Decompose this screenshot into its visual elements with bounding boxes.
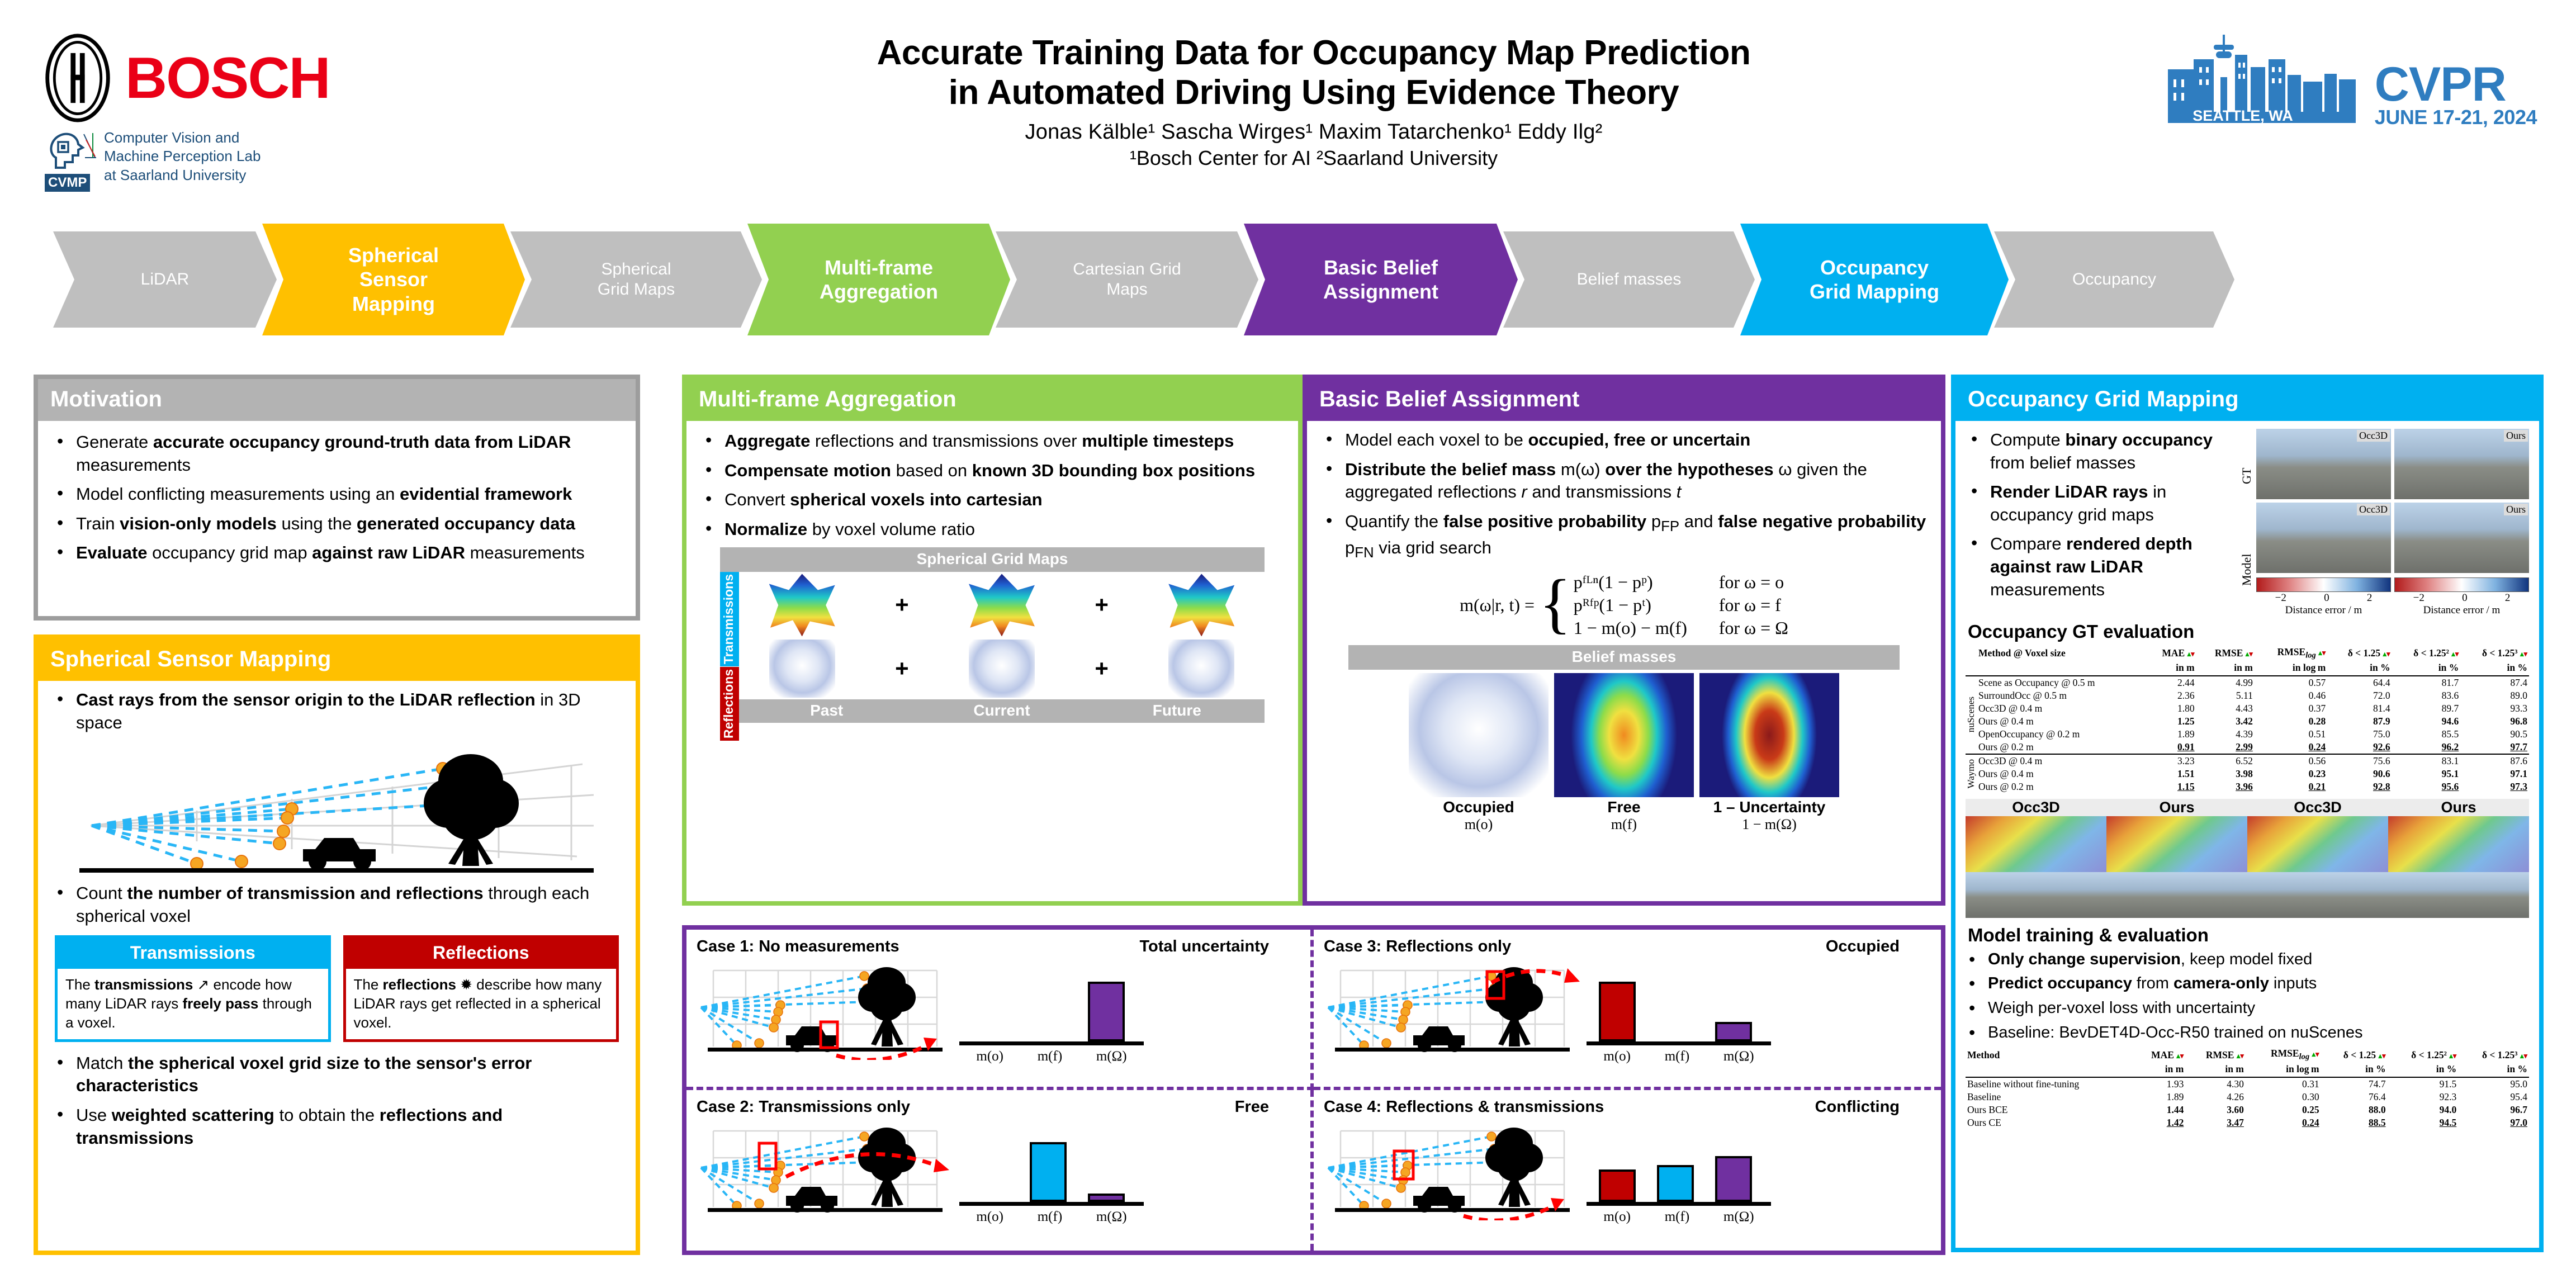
column-header: RMSElog ▴▾ — [2255, 646, 2327, 661]
case-cell-3: Case 3: Reflections only Occupied — [1314, 930, 1941, 1090]
cell-value: 92.6 — [2327, 741, 2392, 754]
column-header: δ < 1.25 ▴▾ — [2321, 1047, 2388, 1063]
column-unit: in % — [2460, 661, 2529, 676]
cell-value: 91.5 — [2388, 1077, 2459, 1091]
camera-image-1 — [1966, 872, 2106, 918]
equation-case-expr: pᶠᴸⁿ(1 − pᵖ) — [1574, 572, 1719, 593]
bar-label: m(f) — [1038, 1049, 1062, 1064]
cell-value: 95.1 — [2392, 768, 2461, 780]
column-unit: in % — [2388, 1063, 2459, 1077]
table-row: Ours BCE1.443.600.2588.094.096.7 — [1966, 1104, 2529, 1116]
transmission-map-past — [769, 574, 835, 636]
page-title-line-1: Accurate Training Data for Occupancy Map… — [660, 34, 1968, 73]
bar-chart-labels: m(o)m(f)m(Ω) — [1587, 1209, 1771, 1225]
equation-lhs: m(ω|r, t) = — [1460, 595, 1535, 615]
column-header: δ < 1.25³ ▴▾ — [2458, 1047, 2529, 1063]
column-header: δ < 1.25³ ▴▾ — [2460, 646, 2529, 661]
row-label-model: Model — [2239, 536, 2256, 603]
bar-chart-axis — [1587, 1202, 1771, 1206]
pipeline-step-multi-frame-aggregation[interactable]: Multi-frameAggregation — [747, 224, 1010, 335]
list-item: Aggregate reflections and transmissions … — [700, 430, 1285, 453]
strip-label: Ours — [2106, 799, 2247, 816]
cell-method: SurroundOcc @ 0.5 m — [1977, 689, 2146, 702]
belief-sub-occupied: m(o) — [1409, 816, 1549, 833]
column-unit: in % — [2327, 661, 2392, 676]
cell-method: Occ3D @ 0.4 m — [1977, 754, 2146, 768]
row-label-gt: GT — [2239, 442, 2256, 509]
belief-label-free: Free — [1554, 798, 1694, 816]
pipeline-step-label: OccupancyGrid Mapping — [1791, 255, 1958, 304]
figure-caption-belief-masses: Belief masses — [1348, 645, 1900, 670]
belief-sub-free: m(f) — [1554, 816, 1694, 833]
cell-value: 83.6 — [2392, 689, 2461, 702]
panel-title-spherical-sensor-mapping: Spherical Sensor Mapping — [38, 639, 636, 681]
pipeline-step-label: SphericalSensorMapping — [329, 243, 458, 316]
camera-image-2 — [2106, 872, 2247, 918]
list-item: Compute binary occupancy from belief mas… — [1966, 429, 2234, 474]
pipeline-step-occupancy[interactable]: Occupancy — [1994, 231, 2234, 328]
column-unit: in log m — [2255, 661, 2327, 676]
camera-image-4 — [2388, 872, 2529, 918]
head-chip-icon — [45, 129, 96, 170]
cell-value: 1.89 — [2146, 728, 2196, 741]
pipeline-step-label: Basic BeliefAssignment — [1304, 255, 1457, 304]
cell-value: 1.89 — [2133, 1091, 2185, 1104]
column-header: δ < 1.25 ▴▾ — [2327, 646, 2392, 661]
cell-value: 87.6 — [2460, 754, 2529, 768]
cell-value: 89.0 — [2460, 689, 2529, 702]
case-bar-chart: m(o)m(f)m(Ω) — [959, 1124, 1144, 1225]
cell-value: 3.96 — [2196, 780, 2255, 793]
column-unit: in % — [2392, 661, 2461, 676]
list-item: Train vision-only models using the gener… — [51, 513, 622, 536]
bba-bullet-list: Model each voxel to be occupied, free or… — [1320, 429, 1928, 563]
cell-value: 0.37 — [2255, 702, 2327, 715]
belief-mass-equation: m(ω|r, t) = { pᶠᴸⁿ(1 − pᵖ)for ω = o pᴿᶠᵖ… — [1320, 570, 1928, 641]
column-header: RMSElog ▴▾ — [2246, 1047, 2321, 1063]
list-item: Render LiDAR rays in occupancy grid maps — [1966, 481, 2234, 526]
table-row: Baseline1.894.260.3076.492.395.4 — [1966, 1091, 2529, 1104]
tag-ours: Ours — [2504, 430, 2528, 442]
bar-chart-axis — [959, 1202, 1144, 1206]
belief-bar-m(Ω) — [1088, 1194, 1125, 1202]
section-title-training-eval: Model training & evaluation — [1968, 925, 2529, 946]
case-bar-chart: m(o)m(f)m(Ω) — [959, 964, 1144, 1064]
column-label-current: Current — [914, 699, 1089, 723]
cell-value: 76.4 — [2321, 1091, 2388, 1104]
occ3d-ours-comparison-strip: Occ3D Ours Occ3D Ours — [1966, 799, 2529, 918]
cell-value: 4.30 — [2185, 1077, 2246, 1091]
table-model-training-evaluation: MethodMAE ▴▾RMSE ▴▾RMSElog ▴▾δ < 1.25 ▴▾… — [1966, 1047, 2529, 1129]
occ-render-4 — [2388, 816, 2529, 872]
panel-multi-frame-aggregation: Multi-frame Aggregation Aggregate reflec… — [682, 375, 1303, 906]
ssm-bullets-top: Cast rays from the sensor origin to the … — [51, 689, 622, 734]
belief-bar-m(Ω) — [1715, 1156, 1752, 1202]
list-item: Compensate motion based on known 3D boun… — [700, 460, 1285, 482]
cell-value: 1.25 — [2146, 715, 2196, 728]
plus-operator-icon: + — [1095, 655, 1109, 682]
ogm-bullet-list: Compute binary occupancy from belief mas… — [1966, 429, 2234, 617]
cell-value: 90.6 — [2327, 768, 2392, 780]
cell-value: 95.0 — [2458, 1077, 2529, 1091]
cvmp-line-1: Computer Vision and — [104, 129, 261, 147]
case-result-label: Free — [1235, 1098, 1269, 1116]
pipeline-step-belief-masses[interactable]: Belief masses — [1503, 231, 1755, 328]
cell-value: 0.25 — [2246, 1104, 2321, 1116]
row-group-label: nuScenes — [1966, 697, 1977, 732]
bar-label: m(f) — [1665, 1209, 1689, 1225]
pipeline-step-label: Cartesian GridMaps — [1054, 259, 1200, 300]
table-row: nuScenesScene as Occupancy @ 0.5 m2.444.… — [1966, 676, 2529, 689]
transmission-map-current — [969, 574, 1035, 636]
transmissions-reflections-boxes: Transmissions The transmissions ↗ encode… — [55, 935, 619, 1041]
colorbar-left: −2 0 2 Distance error / m — [2256, 577, 2391, 617]
results-table: MethodMAE ▴▾RMSE ▴▾RMSElog ▴▾δ < 1.25 ▴▾… — [1966, 1047, 2529, 1129]
cvpr-wordmark: CVPR — [2375, 62, 2537, 108]
case-scene — [1324, 954, 1587, 1063]
tag-occ3d: Occ3D — [2357, 504, 2390, 515]
panel-title-motivation: Motivation — [38, 379, 636, 421]
cell-method: Occ3D @ 0.4 m — [1977, 702, 2146, 715]
bosch-logo: BOSCH — [45, 34, 330, 123]
brace-icon: { — [1539, 578, 1571, 628]
cell-value: 92.3 — [2388, 1091, 2459, 1104]
list-item: Model conflicting measurements using an … — [51, 483, 622, 506]
reflections-box: Reflections The reflections ✹ describe h… — [343, 935, 619, 1041]
cell-value: 94.0 — [2388, 1104, 2459, 1116]
cell-method: OpenOccupancy @ 0.2 m — [1977, 728, 2146, 741]
panel-occupancy-grid-mapping: Occupancy Grid Mapping Compute binary oc… — [1951, 375, 2544, 1252]
bar-label: m(Ω) — [1723, 1209, 1754, 1225]
colorbar-right: −2 0 2 Distance error / m — [2394, 577, 2529, 617]
reflection-map-current — [969, 640, 1035, 698]
cell-value: 94.6 — [2392, 715, 2461, 728]
cell-value: 0.23 — [2255, 768, 2327, 780]
bar-chart-labels: m(o)m(f)m(Ω) — [1587, 1049, 1771, 1064]
case-cell-4: Case 4: Reflections & transmissions Conf… — [1314, 1090, 1941, 1251]
equation-case-expr: pᴿᶠᵖ(1 − pᵗ) — [1574, 595, 1719, 615]
cell-value: 3.23 — [2146, 754, 2196, 768]
pipeline-step-spherical-sensor-mapping[interactable]: SphericalSensorMapping — [262, 224, 525, 335]
belief-bar-m(Ω) — [1088, 982, 1125, 1041]
list-item: Weigh per-voxel loss with uncertainty — [1963, 998, 2529, 1019]
cell-value: 1.80 — [2146, 702, 2196, 715]
transmissions-box-title: Transmissions — [58, 938, 328, 969]
render-gt-ours: Ours — [2394, 429, 2529, 499]
cell-value: 87.9 — [2327, 715, 2392, 728]
pipeline-step-label: Belief masses — [1558, 269, 1701, 290]
cell-value: 92.8 — [2327, 780, 2392, 793]
pipeline-step-label: LiDAR — [122, 269, 209, 290]
bosch-wordmark: BOSCH — [125, 49, 330, 107]
list-item: Cast rays from the sensor origin to the … — [51, 689, 622, 734]
colorbar-tick: 2 — [2505, 592, 2511, 604]
cell-value: 88.0 — [2321, 1104, 2388, 1116]
table-occupancy-gt-evaluation: Method @ Voxel sizeMAE ▴▾RMSE ▴▾RMSElog … — [1966, 646, 2529, 793]
case-result-label: Total uncertainty — [1140, 937, 1270, 956]
cell-method: Ours BCE — [1966, 1104, 2133, 1116]
case-scene-diagram — [697, 1114, 959, 1220]
belief-label-uncertainty: 1 – Uncertainty — [1699, 798, 1839, 816]
cell-value: 83.1 — [2392, 754, 2461, 768]
cell-value: 1.51 — [2146, 768, 2196, 780]
panel-title-basic-belief-assignment: Basic Belief Assignment — [1307, 379, 1941, 421]
column-unit — [1966, 1063, 2133, 1077]
transmissions-box-text: The transmissions ↗ encode how many LiDA… — [58, 969, 328, 1039]
strip-label: Ours — [2388, 799, 2529, 816]
list-item: Count the number of transmission and ref… — [51, 882, 622, 927]
cell-value: 0.24 — [2255, 741, 2327, 754]
column-unit: in % — [2458, 1063, 2529, 1077]
reflection-map-past — [769, 640, 835, 698]
cell-method: Ours CE — [1966, 1116, 2133, 1129]
table-row: SurroundOcc @ 0.5 m2.365.110.4672.083.68… — [1966, 689, 2529, 702]
reflections-box-title: Reflections — [346, 938, 617, 969]
cell-value: 64.4 — [2327, 676, 2392, 689]
cell-value: 75.0 — [2327, 728, 2392, 741]
row-group-label: Waymo — [1966, 759, 1977, 788]
cell-value: 95.4 — [2458, 1091, 2529, 1104]
author-list: Jonas Kälble¹ Sascha Wirges¹ Maxim Tatar… — [660, 120, 1968, 144]
list-item: Use weighted scattering to obtain the re… — [51, 1104, 622, 1149]
tag-ours: Ours — [2504, 504, 2528, 515]
cvpr-logo: SEATTLE, WA CVPR JUNE 17-21, 2024 — [2162, 28, 2537, 131]
row-label-reflections: Reflections — [720, 667, 739, 741]
case-scene-diagram — [697, 954, 959, 1060]
cell-value: 96.2 — [2392, 741, 2461, 754]
motivation-bullet-list: Generate accurate occupancy ground-truth… — [51, 431, 622, 565]
cell-value: 81.4 — [2327, 702, 2392, 715]
list-item: Distribute the belief mass m(ω) over the… — [1320, 458, 1928, 504]
cell-value: 85.5 — [2392, 728, 2461, 741]
equation-case-cond: for ω = o — [1719, 572, 1784, 593]
bar-label: m(o) — [1603, 1209, 1631, 1225]
render-model-ours: Ours — [2394, 503, 2529, 573]
colorbar-gradient — [2394, 577, 2529, 592]
column-header: MAE ▴▾ — [2146, 646, 2196, 661]
spherical-grid-maps-figure: Spherical Grid Maps Transmissions Reflec… — [720, 547, 1265, 740]
pipeline-step-basic-belief-assignment[interactable]: Basic BeliefAssignment — [1244, 224, 1518, 335]
render-model-occ3d: Occ3D — [2256, 503, 2391, 573]
cell-value: 93.3 — [2460, 702, 2529, 715]
cell-value: 4.26 — [2185, 1091, 2246, 1104]
ssm-bullets-bottom: Match the spherical voxel grid size to t… — [51, 1052, 622, 1149]
cell-value: 81.7 — [2392, 676, 2461, 689]
cell-value: 87.4 — [2460, 676, 2529, 689]
cell-value: 95.6 — [2392, 780, 2461, 793]
case-scene — [697, 1114, 959, 1223]
cell-value: 72.0 — [2327, 689, 2392, 702]
column-header: δ < 1.25² ▴▾ — [2388, 1047, 2459, 1063]
cell-value: 97.3 — [2460, 780, 2529, 793]
belief-bar-m(o) — [1599, 982, 1636, 1041]
list-item: Baseline: BevDET4D-Occ-R50 trained on nu… — [1963, 1022, 2529, 1044]
belief-map-occupied — [1409, 673, 1549, 797]
cvpr-date: JUNE 17-21, 2024 — [2375, 108, 2537, 127]
pipeline-banner: LiDAR SphericalSensorMapping SphericalGr… — [53, 224, 2530, 335]
case-bar-chart: m(o)m(f)m(Ω) — [1587, 1124, 1771, 1225]
mfa-bullet-list: Aggregate reflections and transmissions … — [700, 430, 1285, 541]
figure-caption-spherical-grid-maps: Spherical Grid Maps — [720, 547, 1265, 572]
cell-method: Ours @ 0.2 m — [1977, 780, 2146, 793]
column-unit: in m — [2133, 1063, 2185, 1077]
colorbar-tick: −2 — [2275, 592, 2286, 604]
column-unit: in m — [2146, 661, 2196, 676]
list-item: Only change supervision, keep model fixe… — [1963, 949, 2529, 970]
occ-render-2 — [2106, 816, 2247, 872]
cell-value: 0.56 — [2255, 754, 2327, 768]
belief-bar-m(f) — [1030, 1142, 1067, 1202]
column-unit: in m — [2185, 1063, 2246, 1077]
list-item: Model each voxel to be occupied, free or… — [1320, 429, 1928, 452]
reflection-map-future — [1168, 640, 1234, 698]
list-item: Compare rendered depth against raw LiDAR… — [1966, 533, 2234, 601]
case-result-label: Conflicting — [1815, 1098, 1900, 1116]
cell-value: 3.47 — [2185, 1116, 2246, 1129]
cell-method: Ours @ 0.4 m — [1977, 715, 2146, 728]
cell-value: 3.60 — [2185, 1104, 2246, 1116]
render-comparison-figure: GT Model Occ3D Ours Occ3D — [2239, 429, 2529, 617]
belief-masses-figure: Belief masses Occupied m(o) Free m(f) 1 … — [1348, 645, 1900, 833]
colorbar-caption: Distance error / m — [2394, 604, 2529, 617]
strip-label: Occ3D — [2247, 799, 2388, 816]
cell-value: 6.52 — [2196, 754, 2255, 768]
belief-bar-m(f) — [1657, 1165, 1694, 1202]
list-item: Generate accurate occupancy ground-truth… — [51, 431, 622, 476]
equation-case-cond: for ω = f — [1719, 595, 1781, 615]
table-row: OpenOccupancy @ 0.2 m1.894.390.5175.085.… — [1966, 728, 2529, 741]
belief-map-free — [1554, 673, 1694, 797]
equation-case-expr: 1 − m(o) − m(f) — [1574, 618, 1719, 638]
strip-label: Occ3D — [1966, 799, 2106, 816]
render-gt-occ3d: Occ3D — [2256, 429, 2391, 499]
plus-operator-icon: + — [1095, 591, 1109, 618]
bar-label: m(Ω) — [1096, 1049, 1127, 1064]
column-unit: in % — [2321, 1063, 2388, 1077]
column-label-past: Past — [739, 699, 914, 723]
occ-render-3 — [2247, 816, 2388, 872]
pipeline-step-occupancy-grid-mapping[interactable]: OccupancyGrid Mapping — [1740, 224, 2009, 335]
cell-value: 4.43 — [2196, 702, 2255, 715]
results-table: Method @ Voxel sizeMAE ▴▾RMSE ▴▾RMSElog … — [1966, 646, 2529, 793]
cell-value: 2.36 — [2146, 689, 2196, 702]
panel-belief-cases: Case 1: No measurements Total uncertaint… — [682, 925, 1945, 1255]
table-row: Baseline without fine-tuning1.934.300.31… — [1966, 1077, 2529, 1091]
tag-occ3d: Occ3D — [2357, 430, 2390, 442]
case-scene-diagram — [1324, 1114, 1587, 1220]
list-item: Convert spherical voxels into cartesian — [700, 489, 1285, 512]
cell-value: 74.7 — [2321, 1077, 2388, 1091]
colorbar-caption: Distance error / m — [2256, 604, 2391, 617]
title-block: Accurate Training Data for Occupancy Map… — [660, 34, 1968, 170]
case-cell-1: Case 1: No measurements Total uncertaint… — [686, 930, 1314, 1090]
pipeline-step-spherical-grid-maps[interactable]: SphericalGrid Maps — [510, 231, 762, 328]
column-unit — [1977, 661, 2146, 676]
bar-label: m(o) — [1603, 1049, 1631, 1064]
table-row: Ours @ 0.4 m1.513.980.2390.695.197.1 — [1966, 768, 2529, 780]
cvmp-line-3: at Saarland University — [104, 166, 261, 184]
cell-value: 1.44 — [2133, 1104, 2185, 1116]
transmissions-box: Transmissions The transmissions ↗ encode… — [55, 935, 331, 1041]
bar-chart-axis — [959, 1041, 1144, 1045]
table-row: Ours @ 0.4 m1.253.420.2887.994.696.8 — [1966, 715, 2529, 728]
list-item: Predict occupancy from camera-only input… — [1963, 973, 2529, 995]
colorbar-tick: 0 — [2324, 592, 2329, 604]
poster-header: BOSCH CVMP Computer Vision and Machine P… — [0, 0, 2576, 224]
belief-map-uncertainty — [1699, 673, 1839, 797]
cell-value: 96.7 — [2458, 1104, 2529, 1116]
case-result-label: Occupied — [1826, 937, 1900, 956]
bar-label: m(Ω) — [1096, 1209, 1127, 1225]
row-label-transmissions: Transmissions — [720, 572, 739, 666]
list-item: Evaluate occupancy grid map against raw … — [51, 542, 622, 565]
cell-value: 88.5 — [2321, 1116, 2388, 1129]
cell-method: Baseline — [1966, 1091, 2133, 1104]
colorbar-tick: 0 — [2462, 592, 2468, 604]
section-title-gt-eval: Occupancy GT evaluation — [1968, 621, 2529, 642]
cvmp-line-2: Machine Perception Lab — [104, 147, 261, 165]
table-row: WaymoOcc3D @ 0.4 m3.236.520.5675.683.187… — [1966, 754, 2529, 768]
column-header: MAE ▴▾ — [2133, 1047, 2185, 1063]
colorbar-gradient — [2256, 577, 2391, 592]
column-header: RMSE ▴▾ — [2185, 1047, 2246, 1063]
panel-title-multi-frame-aggregation: Multi-frame Aggregation — [686, 379, 1298, 421]
cell-value: 0.51 — [2255, 728, 2327, 741]
cell-value: 97.7 — [2460, 741, 2529, 754]
column-unit: in m — [2196, 661, 2255, 676]
bar-label: m(Ω) — [1723, 1049, 1754, 1064]
cell-value: 1.93 — [2133, 1077, 2185, 1091]
equation-case-cond: for ω = Ω — [1719, 618, 1788, 638]
column-header: Method — [1966, 1047, 2133, 1063]
list-item: Normalize by voxel volume ratio — [700, 518, 1285, 541]
list-item: Quantify the false positive probability … — [1320, 510, 1928, 563]
cell-value: 1.42 — [2133, 1116, 2185, 1129]
training-bullet-list: Only change supervision, keep model fixe… — [1963, 949, 2529, 1044]
pipeline-step-cartesian-grid-maps[interactable]: Cartesian GridMaps — [996, 231, 1258, 328]
bar-label: m(o) — [976, 1209, 1003, 1225]
cell-value: 89.7 — [2392, 702, 2461, 715]
bar-chart-axis — [1587, 1041, 1771, 1045]
transmission-map-future — [1168, 574, 1234, 636]
panel-motivation: Motivation Generate accurate occupancy g… — [34, 375, 640, 621]
cell-value: 75.6 — [2327, 754, 2392, 768]
colorbar-tick: 2 — [2367, 592, 2373, 604]
cell-value: 90.5 — [2460, 728, 2529, 741]
table-row: Ours CE1.423.470.2488.594.597.0 — [1966, 1116, 2529, 1129]
colorbar-tick: −2 — [2413, 592, 2425, 604]
cvmp-badge: CVMP — [45, 174, 90, 192]
belief-label-occupied: Occupied — [1409, 798, 1549, 816]
column-header: Method @ Voxel size — [1977, 646, 2146, 661]
pipeline-step-lidar[interactable]: LiDAR — [53, 231, 277, 328]
bar-label: m(o) — [976, 1049, 1003, 1064]
table-row: Ours @ 0.2 m1.153.960.2192.895.697.3 — [1966, 780, 2529, 793]
cell-method: Ours @ 0.4 m — [1977, 768, 2146, 780]
case-scene-diagram — [1324, 954, 1587, 1060]
plus-operator-icon: + — [895, 655, 909, 682]
belief-bar-m(Ω) — [1715, 1022, 1752, 1041]
column-header: δ < 1.25² ▴▾ — [2392, 646, 2461, 661]
panel-basic-belief-assignment: Basic Belief Assignment Model each voxel… — [1303, 375, 1945, 906]
cell-value: 4.99 — [2196, 676, 2255, 689]
panel-spherical-sensor-mapping: Spherical Sensor Mapping Cast rays from … — [34, 634, 640, 1255]
bar-chart-labels: m(o)m(f)m(Ω) — [959, 1209, 1144, 1225]
pipeline-step-label: Occupancy — [2053, 269, 2175, 290]
reflections-box-text: The reflections ✹ describe how many LiDA… — [346, 969, 617, 1039]
cell-value: 0.46 — [2255, 689, 2327, 702]
seattle-city-label: SEATTLE, WA — [2193, 107, 2293, 125]
